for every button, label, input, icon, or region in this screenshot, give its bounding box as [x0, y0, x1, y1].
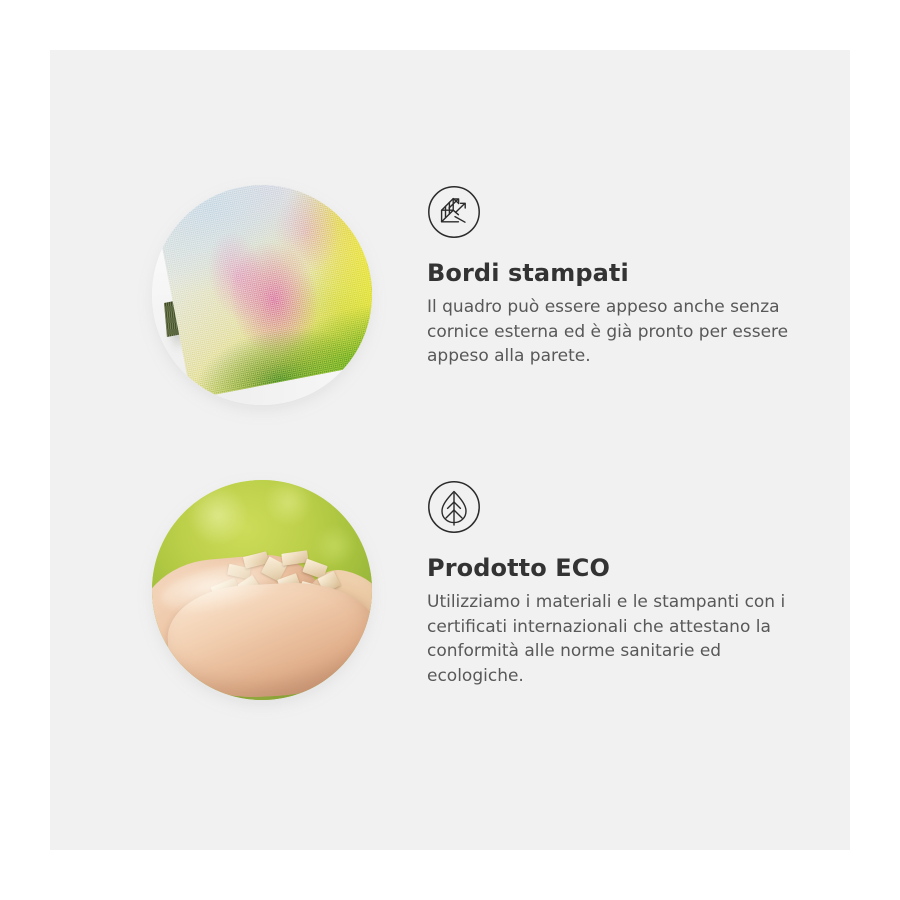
wood-chips-in-hands-photo — [152, 480, 372, 700]
canvas-weave-texture — [152, 185, 372, 399]
feature-image-eco-product — [152, 480, 372, 700]
photo-scene — [152, 480, 372, 700]
canvas-printed-artwork — [152, 185, 372, 399]
feature-block-eco-product: Prodotto ECO Utilizziamo i materiali e l… — [50, 480, 850, 750]
photo-scene — [152, 185, 372, 405]
leaf-icon — [427, 480, 481, 534]
canvas-print-corner-photo — [152, 185, 372, 405]
feature-block-printed-edges: Bordi stampati Il quadro può essere appe… — [50, 185, 850, 455]
printed-canvas-edge-icon — [427, 185, 481, 239]
content-panel: Bordi stampati Il quadro può essere appe… — [50, 50, 850, 850]
feature-image-printed-edges — [152, 185, 372, 405]
feature-description: Utilizziamo i materiali e le stampanti c… — [427, 590, 799, 688]
product-feature-infographic: Bordi stampati Il quadro può essere appe… — [0, 0, 900, 900]
feature-title: Prodotto ECO — [427, 554, 807, 582]
feature-description: Il quadro può essere appeso anche senza … — [427, 295, 799, 369]
feature-text-printed-edges: Bordi stampati Il quadro può essere appe… — [427, 185, 807, 369]
feature-title: Bordi stampati — [427, 259, 807, 287]
feature-text-eco-product: Prodotto ECO Utilizziamo i materiali e l… — [427, 480, 807, 688]
